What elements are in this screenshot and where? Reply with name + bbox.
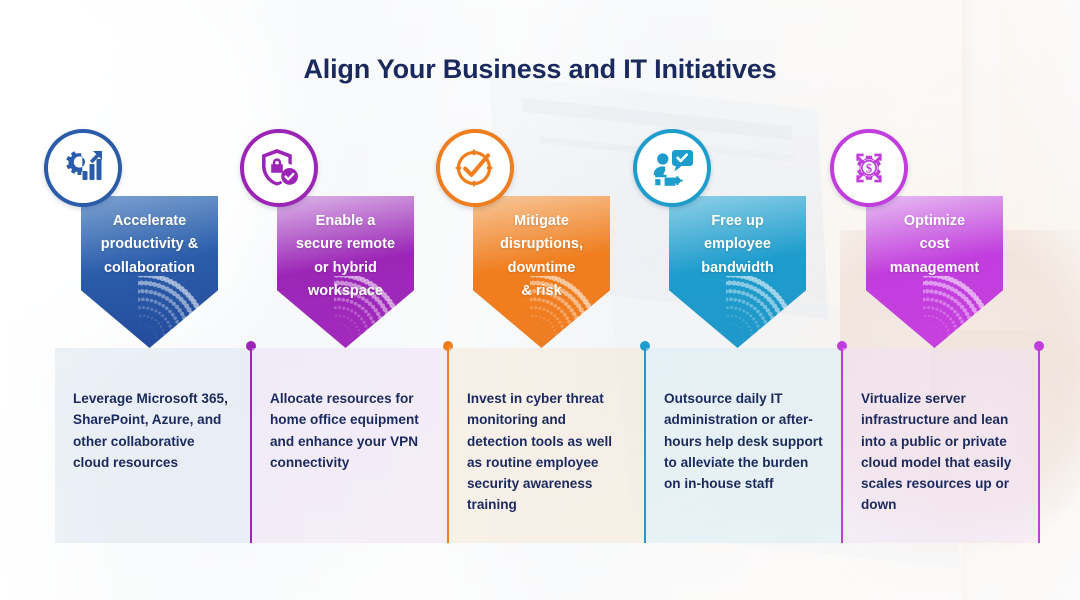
detail-column-secure-workspace: Allocate resources for home office equip… (252, 348, 449, 543)
clock-check-icon (452, 146, 498, 190)
person-chat-check-icon (649, 146, 695, 190)
detail-text-cost-management: Virtualize server infrastructure and lea… (861, 388, 1022, 516)
detail-text-accelerate: Leverage Microsoft 365, SharePoint, Azur… (73, 388, 234, 473)
gear-bar-chart-icon (60, 146, 106, 190)
shield-lock-check-icon (256, 146, 302, 190)
icon-badge-secure-workspace[interactable] (240, 129, 318, 207)
detail-text-mitigate-risk: Invest in cyber threat monitoring and de… (467, 388, 628, 516)
detail-panel: Leverage Microsoft 365, SharePoint, Azur… (55, 348, 1040, 543)
page-title: Align Your Business and IT Initiatives (0, 54, 1080, 85)
detail-column-accelerate: Leverage Microsoft 365, SharePoint, Azur… (55, 348, 252, 543)
icon-badge-accelerate[interactable] (44, 129, 122, 207)
detail-column-employee-bandwidth: Outsource daily IT administration or aft… (646, 348, 843, 543)
icon-badge-mitigate-risk[interactable] (436, 129, 514, 207)
divider-dot-end (1034, 341, 1044, 351)
detail-column-cost-management: Virtualize server infrastructure and lea… (843, 348, 1040, 543)
infographic-canvas: Align Your Business and IT Initiatives A… (0, 0, 1080, 600)
detail-column-mitigate-risk: Invest in cyber threat monitoring and de… (449, 348, 646, 543)
icon-badge-employee-bandwidth[interactable] (633, 129, 711, 207)
detail-text-employee-bandwidth: Outsource daily IT administration or aft… (664, 388, 825, 494)
gear-dollar-arrows-icon: $ (846, 146, 892, 190)
column-divider-end (1038, 348, 1040, 543)
icon-badge-cost-management[interactable]: $ (830, 129, 908, 207)
detail-text-secure-workspace: Allocate resources for home office equip… (270, 388, 431, 473)
svg-text:$: $ (866, 161, 872, 175)
